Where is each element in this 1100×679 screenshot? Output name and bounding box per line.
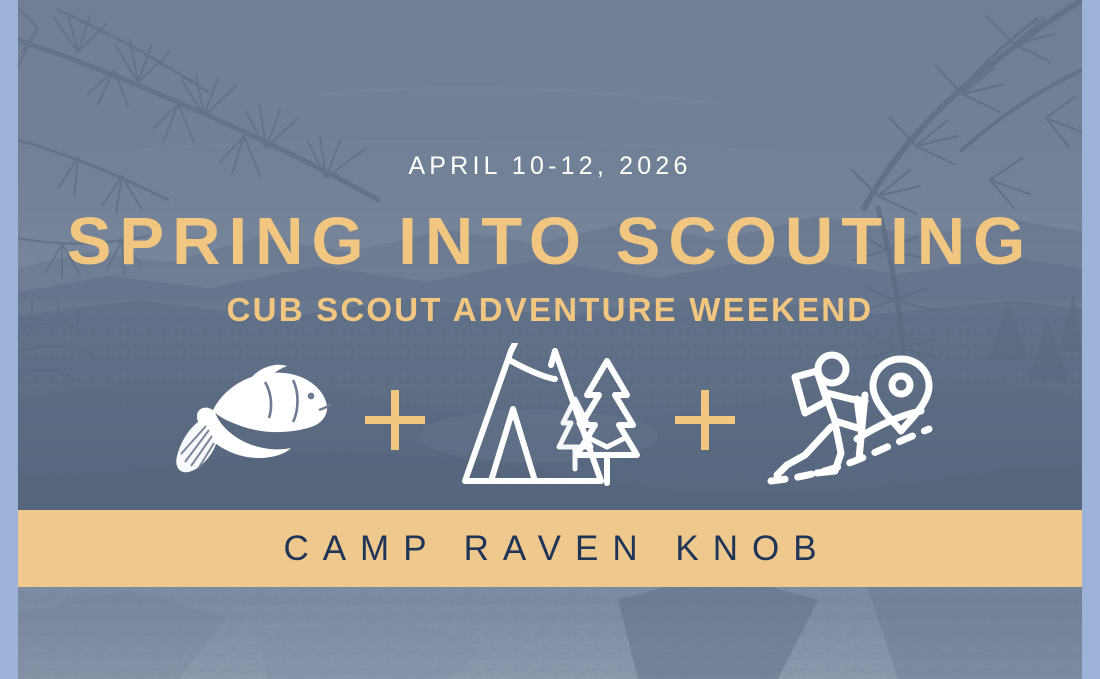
plus-icon — [673, 388, 737, 452]
poster-content: APRIL 10-12, 2026 SPRING INTO SCOUTING C… — [0, 0, 1100, 679]
poster: APRIL 10-12, 2026 SPRING INTO SCOUTING C… — [0, 0, 1100, 679]
plus-icon — [363, 388, 427, 452]
page-subtitle: CUB SCOUT ADVENTURE WEEKEND — [0, 293, 1100, 326]
icon-cell-hiking — [765, 343, 935, 498]
icon-cell-fishing — [165, 348, 335, 493]
activity-icon-row — [0, 340, 1100, 500]
camp-name: CAMP RAVEN KNOB — [269, 529, 830, 569]
fish-icon — [165, 348, 335, 493]
hiker-icon — [765, 343, 935, 498]
plus-separator-1 — [335, 388, 455, 452]
page-title: SPRING INTO SCOUTING — [0, 208, 1100, 275]
event-date: APRIL 10-12, 2026 — [0, 152, 1100, 181]
plus-separator-2 — [645, 388, 765, 452]
icon-cell-camping — [455, 343, 645, 498]
location-banner: CAMP RAVEN KNOB — [18, 510, 1082, 587]
tent-icon — [455, 343, 645, 498]
